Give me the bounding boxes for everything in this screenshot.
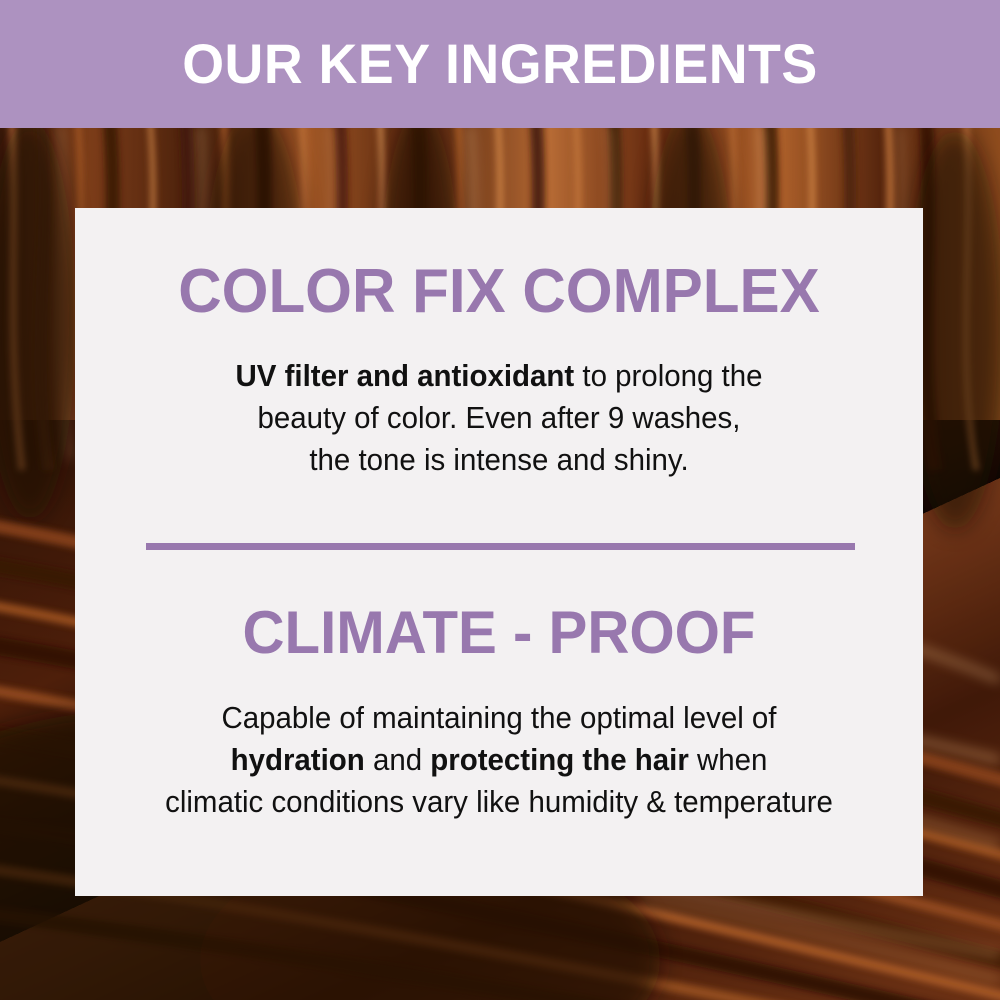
- body-text: and: [365, 742, 431, 777]
- body-line: the tone is intense and shiny.: [87, 439, 912, 481]
- body-text: when: [689, 742, 768, 777]
- body-line: hydration and protecting the hair when: [75, 739, 922, 781]
- header-bar: OUR KEY INGREDIENTS: [0, 0, 1000, 128]
- section-title-color-fix-complex: COLOR FIX COMPLEX: [88, 261, 911, 323]
- body-text-bold: protecting the hair: [430, 742, 689, 777]
- ingredients-infographic: OUR KEY INGREDIENTS COLOR FIX COMPLEX UV…: [0, 0, 1000, 1000]
- body-line: beauty of color. Even after 9 washes,: [87, 397, 912, 439]
- body-line: Capable of maintaining the optimal level…: [75, 697, 922, 739]
- body-text: to prolong the: [574, 358, 762, 393]
- body-text-bold: UV filter and antioxidant: [235, 358, 574, 393]
- section-body-climate-proof: Capable of maintaining the optimal level…: [75, 697, 922, 823]
- body-line: UV filter and antioxidant to prolong the: [87, 355, 912, 397]
- body-text: climatic conditions vary like humidity &…: [165, 784, 833, 819]
- page-title: OUR KEY INGREDIENTS: [182, 36, 817, 92]
- body-text: the tone is intense and shiny.: [309, 442, 688, 477]
- section-body-color-fix-complex: UV filter and antioxidant to prolong the…: [87, 355, 912, 481]
- body-text: Capable of maintaining the optimal level…: [222, 700, 777, 735]
- section-divider: [146, 543, 855, 550]
- section-title-climate-proof: CLIMATE - PROOF: [88, 603, 911, 663]
- body-text: beauty of color. Even after 9 washes,: [258, 400, 741, 435]
- body-text-bold: hydration: [231, 742, 365, 777]
- body-line: climatic conditions vary like humidity &…: [75, 781, 922, 823]
- ingredients-card: COLOR FIX COMPLEX UV filter and antioxid…: [75, 208, 923, 896]
